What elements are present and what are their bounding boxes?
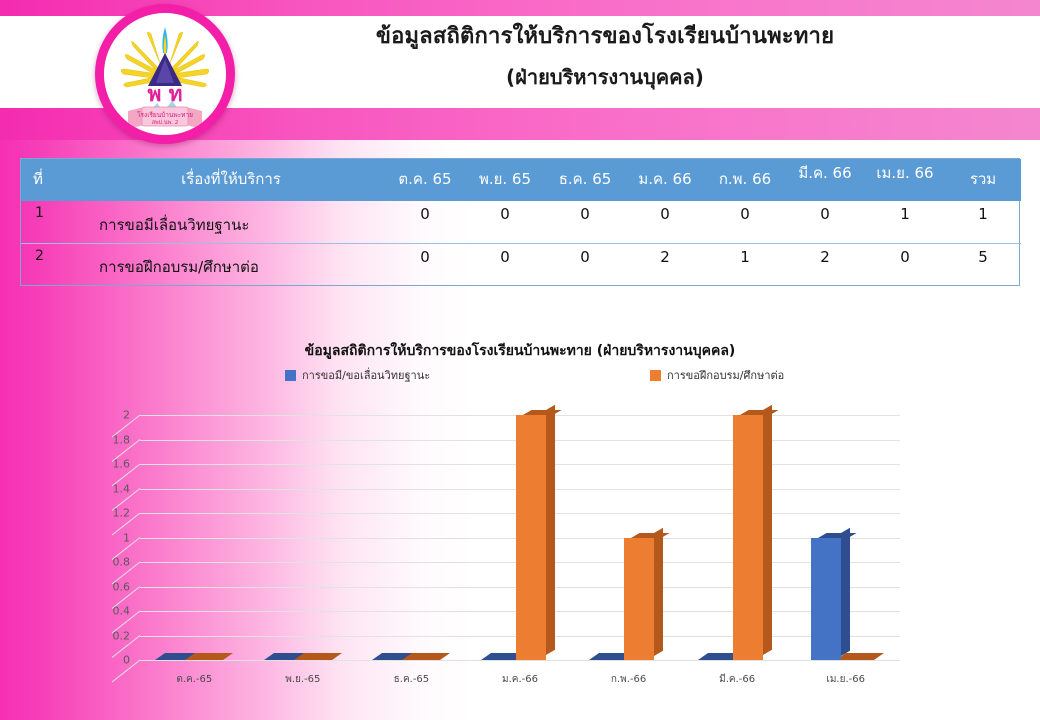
- cell-oct65: 0: [385, 201, 465, 243]
- bar-zero-1: [185, 653, 233, 660]
- bar-side-face: [841, 527, 850, 655]
- cell-jan66: 0: [625, 201, 705, 243]
- bar-series-1: [624, 538, 654, 661]
- bar-zero-1: [402, 653, 450, 660]
- cell-feb66: 1: [705, 243, 785, 285]
- cell-mar66: 0: [785, 201, 865, 243]
- row-topic: การขอมีเลื่อนวิทยฐานะ: [77, 201, 385, 243]
- bar-group: [574, 415, 683, 660]
- bar-group: [466, 415, 575, 660]
- bar-group: [140, 415, 249, 660]
- column-header-total: รวม: [945, 159, 1021, 201]
- x-axis-tick: ก.พ.-66: [574, 672, 683, 687]
- legend-swatch-blue: [285, 370, 296, 381]
- row-number: 2: [21, 243, 77, 285]
- row-topic: การขอฝึกอบรม/ศึกษาต่อ: [77, 243, 385, 285]
- table-row: 1 การขอมีเลื่อนวิทยฐานะ 0 0 0 0 0 0 1 1: [21, 201, 1021, 243]
- cell-nov65: 0: [465, 201, 545, 243]
- bar-front-face: [733, 415, 763, 660]
- bar-zero-1: [836, 653, 884, 660]
- column-header-feb66: ก.พ. 66: [705, 159, 785, 201]
- legend-label-series-1: การขอฝึกอบรม/ศึกษาต่อ: [667, 366, 784, 384]
- cell-mar66: 2: [785, 243, 865, 285]
- school-logo: พ ท โรงเรียนบ้านพะทาย สพป.นพ. 2: [95, 4, 235, 144]
- x-axis-labels: ต.ค.-65พ.ย.-65ธ.ค.-65ม.ค.-66ก.พ.-66มี.ค.…: [140, 672, 900, 692]
- x-axis-tick: ม.ค.-66: [466, 672, 575, 687]
- svg-text:สพป.นพ. 2: สพป.นพ. 2: [152, 119, 179, 126]
- cell-total: 5: [945, 243, 1021, 285]
- cell-apr66: 0: [865, 243, 945, 285]
- chart-plot-area: 00.20.40.60.811.21.41.61.82 ต.ค.-65พ.ย.-…: [0, 400, 1040, 720]
- svg-text:พ ท: พ ท: [148, 82, 183, 106]
- statistics-table: ที่ เรื่องที่ให้บริการ ต.ค. 65 พ.ย. 65 ธ…: [21, 159, 1021, 285]
- bar-group: [683, 415, 792, 660]
- bar-front-face: [811, 538, 841, 661]
- bar-group: [357, 415, 466, 660]
- table-body: 1 การขอมีเลื่อนวิทยฐานะ 0 0 0 0 0 0 1 1 …: [21, 201, 1021, 285]
- cell-total: 1: [945, 201, 1021, 243]
- legend-item-series-1: การขอฝึกอบรม/ศึกษาต่อ: [650, 366, 784, 384]
- x-axis-tick: ต.ค.-65: [140, 672, 249, 687]
- gridline: [140, 660, 900, 661]
- page-title: ข้อมูลสถิติการให้บริการของโรงเรียนบ้านพะ…: [255, 20, 955, 54]
- table-row: 2 การขอฝึกอบรม/ศึกษาต่อ 0 0 0 2 1 2 0 5: [21, 243, 1021, 285]
- bar-series-1: [516, 415, 546, 660]
- chart-legend: การขอมี/ขอเลื่อนวิทยฐานะ การขอฝึกอบรม/ศึ…: [0, 366, 1040, 384]
- chart-container: ข้อมูลสถิติการให้บริการของโรงเรียนบ้านพะ…: [0, 330, 1040, 720]
- legend-item-series-0: การขอมี/ขอเลื่อนวิทยฐานะ: [285, 366, 430, 384]
- cell-jan66: 2: [625, 243, 705, 285]
- bar-side-face: [654, 527, 663, 655]
- legend-label-series-0: การขอมี/ขอเลื่อนวิทยฐานะ: [302, 366, 430, 384]
- cell-dec65: 0: [545, 201, 625, 243]
- cell-apr66: 1: [865, 201, 945, 243]
- bar-group: [249, 415, 358, 660]
- legend-swatch-orange: [650, 370, 661, 381]
- statistics-table-container: ที่ เรื่องที่ให้บริการ ต.ค. 65 พ.ย. 65 ธ…: [20, 158, 1020, 286]
- column-header-no: ที่: [21, 159, 77, 201]
- bar-series-1: [733, 415, 763, 660]
- cell-nov65: 0: [465, 243, 545, 285]
- column-header-dec65: ธ.ค. 65: [545, 159, 625, 201]
- page-subtitle: (ฝ่ายบริหารงานบุคคล): [255, 60, 955, 94]
- bar-front-face: [516, 415, 546, 660]
- svg-text:โรงเรียนบ้านพะทาย: โรงเรียนบ้านพะทาย: [137, 111, 193, 119]
- bar-series-0: [811, 538, 841, 661]
- table-head: ที่ เรื่องที่ให้บริการ ต.ค. 65 พ.ย. 65 ธ…: [21, 159, 1021, 201]
- column-header-apr66: เม.ย. 66: [865, 159, 945, 201]
- page-banner: พ ท โรงเรียนบ้านพะทาย สพป.นพ. 2 ข้อมูลสถ…: [0, 0, 1040, 140]
- column-header-jan66: ม.ค. 66: [625, 159, 705, 201]
- bar-side-face: [546, 405, 555, 655]
- cell-dec65: 0: [545, 243, 625, 285]
- column-header-mar66: มี.ค. 66: [785, 159, 865, 201]
- column-header-nov65: พ.ย. 65: [465, 159, 545, 201]
- column-header-oct65: ต.ค. 65: [385, 159, 465, 201]
- bar-zero-1: [294, 653, 342, 660]
- x-axis-tick: เม.ย.-66: [791, 672, 900, 687]
- x-axis-tick: มี.ค.-66: [683, 672, 792, 687]
- bar-side-face: [763, 405, 772, 655]
- table-header-row: ที่ เรื่องที่ให้บริการ ต.ค. 65 พ.ย. 65 ธ…: [21, 159, 1021, 201]
- bar-front-face: [624, 538, 654, 661]
- cell-oct65: 0: [385, 243, 465, 285]
- row-number: 1: [21, 201, 77, 243]
- page-title-block: ข้อมูลสถิติการให้บริการของโรงเรียนบ้านพะ…: [255, 20, 955, 94]
- column-header-topic: เรื่องที่ให้บริการ: [77, 159, 385, 201]
- bar-group: [791, 415, 900, 660]
- chart-title: ข้อมูลสถิติการให้บริการของโรงเรียนบ้านพะ…: [0, 340, 1040, 362]
- cell-feb66: 0: [705, 201, 785, 243]
- x-axis-tick: พ.ย.-65: [249, 672, 358, 687]
- chart-bars: [140, 415, 900, 660]
- school-logo-emblem: พ ท โรงเรียนบ้านพะทาย สพป.นพ. 2: [104, 13, 226, 135]
- x-axis-tick: ธ.ค.-65: [357, 672, 466, 687]
- chart-3d-sidewall: [112, 415, 142, 685]
